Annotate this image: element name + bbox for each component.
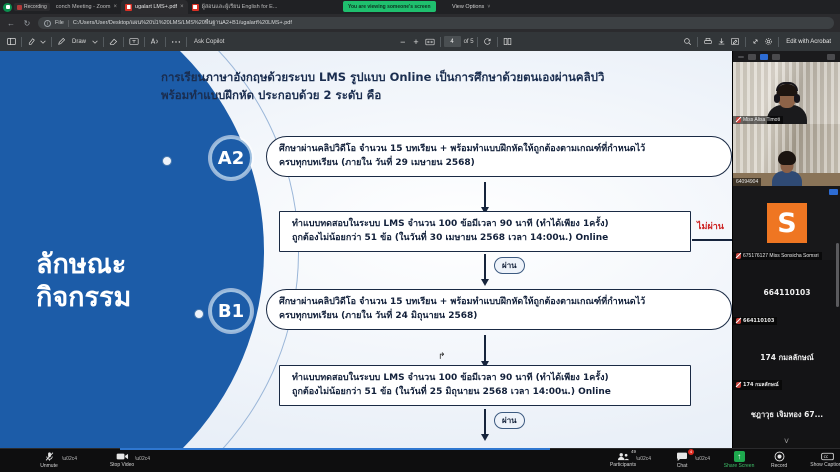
sidebar-toggle-icon[interactable] <box>5 35 18 49</box>
section-label-line-2: กิจกรรม <box>36 282 216 315</box>
a2-study-line-1: ศึกษาผ่านคลิปวิดีโอ จำนวน 15 บทเรียน + พ… <box>279 143 719 157</box>
decorative-dot-top <box>162 156 172 166</box>
a2-test-line-2: ถูกต้องไม่น้อยกว่า 51 ข้อ (ในวันที่ 30 เ… <box>292 232 678 246</box>
zoom-in-button[interactable]: + <box>409 35 422 49</box>
level-badge-b1: B1 <box>210 290 252 332</box>
divider <box>144 37 145 47</box>
screen-root: Recording conch Meeting - Zoom × ugalart… <box>0 0 840 472</box>
headline-line-2: พร้อมทำแบบฝึกหัด ประกอบด้วย 2 ระดับ คือ <box>161 87 761 105</box>
video-tile-6[interactable]: ชฎาวุธ เจิมทอง 67... <box>733 390 840 440</box>
participants-count: 49 <box>631 449 636 454</box>
divider <box>103 37 104 47</box>
record-icon <box>774 451 785 462</box>
person-body <box>772 171 802 186</box>
reload-icon[interactable]: ↻ <box>22 19 32 28</box>
browser-address-bar: ← ↻ i File C:/Users/User/Desktop/แผน%20ป… <box>0 14 840 32</box>
view-options-button[interactable]: View Options ˅ <box>452 1 490 12</box>
recording-chip[interactable]: Recording <box>14 3 50 11</box>
read-aloud-icon[interactable] <box>148 35 162 49</box>
participant-name: 664110103 <box>743 318 774 324</box>
chat-icon <box>676 452 688 462</box>
pdf-icon <box>192 4 199 11</box>
b1-test-line-1: ทำแบบทดสอบในระบบ LMS จำนวน 100 ข้อมีเวลา… <box>292 372 678 386</box>
zoom-toolbar-label: Share Screen <box>724 463 755 469</box>
layout-icon[interactable] <box>501 35 514 49</box>
page-count-label: of 5 <box>464 39 474 45</box>
a2-fail-label: ไม่ผ่าน <box>697 219 724 233</box>
mic-muted-icon <box>736 253 741 259</box>
a2-study-line-2: ครบทุกบทเรียน (ภายใน วันที่ 29 เมษายน 25… <box>279 157 719 171</box>
video-tile-5[interactable]: 174 กมลลักษณ์ 174 กมลลักษณ์ <box>733 325 840 390</box>
divider <box>440 37 441 47</box>
mouse-cursor: ↱ <box>438 351 446 362</box>
url-text: C:/Users/User/Desktop/แผน%20ป1%20LMS/LMS… <box>73 19 292 27</box>
divider <box>68 20 69 27</box>
video-tile-4[interactable]: 664110103 664110103 <box>733 260 840 325</box>
zoom-toolbar-label: Participants <box>610 462 636 468</box>
divider <box>697 37 698 47</box>
a2-test-line-1: ทำแบบทดสอบในระบบ LMS จำนวน 100 ข้อมีเวลา… <box>292 218 678 232</box>
zoom-out-button[interactable]: − <box>396 35 409 49</box>
pdf-toolbar: Draw Ask Copilot − + 4 of 5 <box>0 32 840 51</box>
fullscreen-icon[interactable] <box>827 54 835 60</box>
erase-icon[interactable] <box>107 35 120 49</box>
tab-title: conch Meeting - Zoom <box>56 4 111 10</box>
close-icon[interactable]: × <box>180 4 184 10</box>
participant-namebar: 675176127 Miss Sonsicha Somsri <box>733 252 822 260</box>
a2-pass-pill: ผ่าน <box>494 257 525 274</box>
url-scheme: File <box>55 20 64 26</box>
person-hair <box>778 151 796 165</box>
zoom-toolbar-label: Unmute <box>40 463 58 469</box>
chevron-up-icon[interactable]: \u02c4 <box>62 456 77 472</box>
zoom-unmute-button[interactable]: Unmute <box>34 448 64 472</box>
share-screen-icon <box>734 451 745 462</box>
divider <box>186 37 187 47</box>
a2-arrow-study-to-test <box>484 182 486 208</box>
info-icon[interactable]: i <box>44 20 51 27</box>
zoom-toolbar-label: Record <box>771 463 787 469</box>
participant-namebar: 174 กมลลักษณ์ <box>733 380 782 390</box>
draw-icon[interactable] <box>55 35 68 49</box>
divider <box>51 37 52 47</box>
chevron-down-icon: ˅ <box>487 4 490 10</box>
fullscreen-icon[interactable] <box>749 35 762 49</box>
divider <box>497 37 498 47</box>
minimize-icon[interactable] <box>738 56 744 58</box>
participant-namebar: 64094904 <box>733 178 761 186</box>
save-icon[interactable] <box>715 35 728 49</box>
share-banner-label: You are viewing someone's screen <box>348 4 431 10</box>
more-tools-icon[interactable] <box>169 35 183 49</box>
zoom-toolbar-label: Stop Video <box>110 462 134 468</box>
ask-copilot-button[interactable]: Ask Copilot <box>190 35 228 49</box>
text-box-icon[interactable] <box>127 35 141 49</box>
b1-arrow-study-to-test <box>484 335 486 362</box>
participant-namebar: 664110103 <box>733 317 777 325</box>
zoom-recording-indicator: Recording <box>3 3 50 12</box>
b1-pass-pill: ผ่าน <box>494 412 525 429</box>
zoom-share-screen-button[interactable]: Share Screen <box>724 448 754 472</box>
participant-name: 675176127 Miss Sonsicha Somsri <box>743 253 819 259</box>
pdf-icon <box>125 4 132 11</box>
chat-unread-badge: 4 <box>688 449 694 455</box>
b1-study-line-1: ศึกษาผ่านคลิปวิดีโอ จำนวน 15 บทเรียน + พ… <box>279 296 719 310</box>
highlight-chevron-down-icon[interactable] <box>38 35 48 49</box>
people-icon <box>617 452 630 461</box>
search-icon[interactable] <box>681 35 694 49</box>
page-number-input[interactable]: 4 <box>444 36 461 47</box>
browser-tab-zoom[interactable]: conch Meeting - Zoom × <box>52 0 121 14</box>
b1-test-line-2: ถูกต้องไม่น้อยกว่า 51 ข้อ (ในวันที่ 25 ม… <box>292 386 678 400</box>
b1-test-box: ทำแบบทดสอบในระบบ LMS จำนวน 100 ข้อมีเวลา… <box>279 365 691 406</box>
tab-title: ผู้สอนและผู้เรียน English for E... <box>202 3 278 11</box>
annotate-icon[interactable] <box>728 35 742 49</box>
headphone-left <box>774 94 780 103</box>
zoom-record-button[interactable]: Record <box>764 448 794 472</box>
participant-display-name: ชฎาวุธ เจิมทอง 67... <box>751 409 823 421</box>
pdf-viewer-area[interactable]: ลักษณะ กิจกรรม การเรียนภาษาอังกฤษด้วยระบ… <box>0 51 840 448</box>
participant-name: Miss Alisa Timoti <box>743 117 780 123</box>
participant-namebar: Miss Alisa Timoti <box>733 116 783 124</box>
participant-name: 174 กมลลักษณ์ <box>743 381 779 389</box>
a2-arrow-test-to-b1 <box>484 254 486 280</box>
divider <box>123 37 124 47</box>
zoom-participants-button[interactable]: 49 Participants <box>608 448 638 472</box>
section-label-activity-type: ลักษณะ กิจกรรม <box>36 249 216 315</box>
edit-with-acrobat-button[interactable]: Edit with Acrobat <box>782 39 835 45</box>
chevron-down-icon[interactable]: ˅ <box>733 436 840 446</box>
zoom-toolbar-label: Show Captions <box>810 462 840 468</box>
divider <box>165 37 166 47</box>
a2-test-box: ทำแบบทดสอบในระบบ LMS จำนวน 100 ข้อมีเวลา… <box>279 211 691 252</box>
divider <box>745 37 746 47</box>
zoom-chat-button[interactable]: 4 Chat <box>667 448 697 472</box>
b1-arrow-test-down <box>484 409 486 435</box>
b1-study-line-2: ครบทุกบทเรียน (ภายใน วันที่ 24 มิถุนายน … <box>279 310 719 324</box>
chevron-up-icon[interactable]: \u02c4 <box>135 456 150 472</box>
draw-chevron-down-icon[interactable] <box>90 35 100 49</box>
zoom-bottom-toolbar: Unmute \u02c4 Stop Video \u02c4 49 Parti… <box>0 448 840 472</box>
headphones-icon <box>776 82 798 91</box>
zoom-app-icon <box>3 3 12 12</box>
status-chip <box>829 189 838 195</box>
zoom-show-captions-button[interactable]: cc Show Captions <box>812 448 840 472</box>
divider <box>778 37 779 47</box>
page-headline: การเรียนภาษาอังกฤษด้วยระบบ LMS รูปแบบ On… <box>161 69 761 105</box>
back-icon[interactable]: ← <box>6 19 16 28</box>
record-stop-icon <box>17 5 22 10</box>
mic-muted-icon <box>736 318 741 324</box>
fit-page-icon[interactable] <box>423 35 437 49</box>
zoom-video-panel[interactable]: Miss Alisa Timoti 64094904 S 675176127 M… <box>732 51 840 448</box>
pdf-page: ลักษณะ กิจกรรม การเรียนภาษาอังกฤษด้วยระบ… <box>14 51 826 448</box>
camera-icon <box>116 452 129 461</box>
omnibox[interactable]: i File C:/Users/User/Desktop/แผน%20ป1%20… <box>38 17 834 29</box>
recording-label: Recording <box>24 4 47 10</box>
speaker-view-icon[interactable] <box>748 54 756 60</box>
svg-text:cc: cc <box>823 454 828 459</box>
level-badge-label: A2 <box>218 148 244 169</box>
participant-display-name: 664110103 <box>764 288 811 297</box>
highlight-icon[interactable] <box>25 35 38 49</box>
chevron-up-icon[interactable]: \u02c4 <box>695 456 710 472</box>
level-badge-a2: A2 <box>210 137 252 179</box>
browser-tab-pdf-active[interactable]: ugalart LMS+.pdf × <box>121 0 188 14</box>
mic-muted-icon <box>736 117 741 123</box>
participant-name: 64094904 <box>736 179 758 185</box>
mic-muted-icon <box>736 382 741 388</box>
zoom-toolbar-label: Chat <box>677 463 688 469</box>
rotate-icon[interactable] <box>481 35 494 49</box>
a2-study-box: ศึกษาผ่านคลิปวิดีโอ จำนวน 15 บทเรียน + พ… <box>266 136 732 177</box>
level-badge-label: B1 <box>218 301 244 322</box>
video-panel-scrollbar[interactable] <box>836 243 839 307</box>
video-tile-3-avatar[interactable]: S 675176127 Miss Sonsicha Somsri <box>733 186 840 260</box>
b1-study-box: ศึกษาผ่านคลิปวิดีโอ จำนวน 15 บทเรียน + พ… <box>266 289 732 330</box>
draw-button[interactable]: Draw <box>68 35 90 49</box>
video-tile-1[interactable]: Miss Alisa Timoti <box>733 62 840 124</box>
browser-tabstrip: Recording conch Meeting - Zoom × ugalart… <box>0 0 840 14</box>
view-options-label: View Options <box>452 4 484 10</box>
mic-muted-icon <box>44 451 55 462</box>
section-label-line-1: ลักษณะ <box>36 249 216 282</box>
captions-icon: cc <box>821 452 834 461</box>
browser-tab-english[interactable]: ผู้สอนและผู้เรียน English for E... <box>188 0 282 14</box>
multi-speaker-view-icon[interactable] <box>772 54 780 60</box>
chevron-up-icon[interactable]: \u02c4 <box>636 456 651 472</box>
headline-line-1: การเรียนภาษาอังกฤษด้วยระบบ LMS รูปแบบ On… <box>161 69 761 87</box>
video-layout-controls[interactable] <box>733 51 840 62</box>
divider <box>21 37 22 47</box>
gallery-view-icon[interactable] <box>760 54 768 60</box>
avatar: S <box>767 203 807 243</box>
share-progress-strip <box>120 448 550 450</box>
headphone-right <box>794 94 800 103</box>
divider <box>477 37 478 47</box>
participant-display-name: 174 กมลลักษณ์ <box>760 352 813 364</box>
tab-title: ugalart LMS+.pdf <box>135 4 177 10</box>
close-icon[interactable]: × <box>114 4 118 10</box>
print-icon[interactable] <box>701 35 715 49</box>
screen-share-banner: You are viewing someone's screen <box>343 1 436 12</box>
zoom-stop-video-button[interactable]: Stop Video <box>107 448 137 472</box>
settings-gear-icon[interactable] <box>762 35 775 49</box>
video-tile-2[interactable]: 64094904 <box>733 124 840 186</box>
